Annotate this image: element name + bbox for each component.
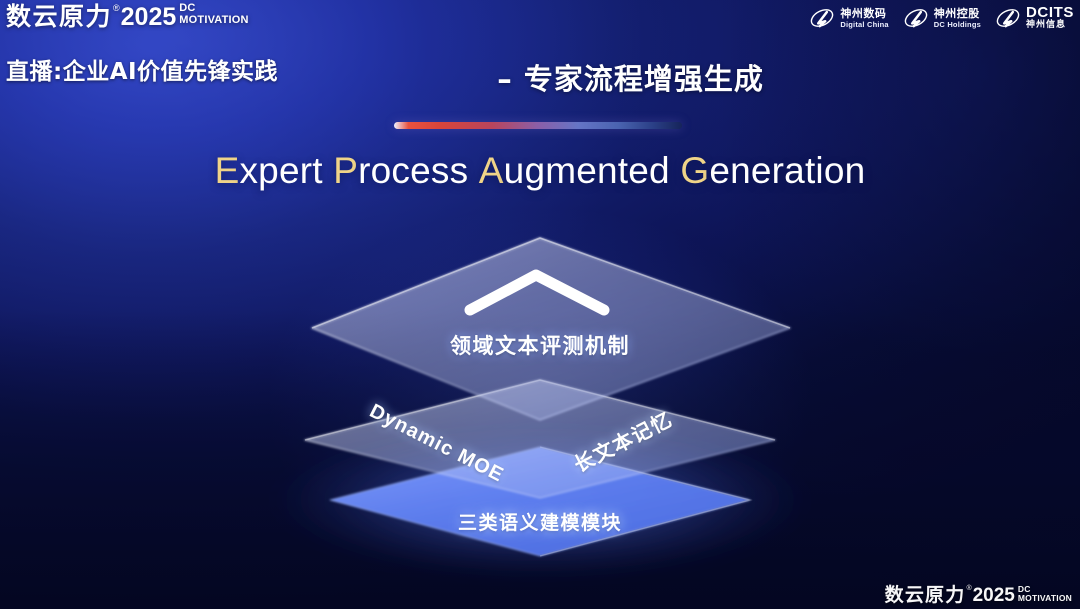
- partner-name-cn: 神州信息: [1026, 20, 1074, 31]
- partner-text-block: DCITS 神州信息: [1026, 5, 1074, 31]
- footer-logo-motivation: MOTIVATION: [1018, 594, 1072, 604]
- subtitle-rest-generation: eneration: [709, 150, 865, 191]
- partner-logo-bar: 神州数码 Digital China 神州控股 DC Holdings DCIT…: [809, 5, 1074, 31]
- subtitle-cap-e: E: [215, 150, 240, 191]
- subtitle-cap-a: A: [479, 150, 504, 191]
- chevron-up-icon: [470, 275, 604, 310]
- slide-title: EPAG – 专家流程增强生成: [0, 56, 1080, 98]
- swoosh-icon: [903, 5, 929, 31]
- diagram-layer-top: [312, 238, 790, 420]
- slide-title-chinese: 专家流程增强生成: [524, 62, 764, 96]
- subtitle-rest-expert: xpert: [239, 150, 322, 191]
- registered-mark-icon: ®: [113, 2, 120, 14]
- event-logo-cn: 数云原力: [6, 2, 112, 32]
- partner-logo-dc-holdings: 神州控股 DC Holdings: [903, 5, 981, 31]
- event-logo-dc: DC: [179, 3, 248, 14]
- slide-canvas: 数云原力 ® 2025 DC MOTIVATION 直播:企业AI价值先锋实践 …: [0, 0, 1080, 609]
- event-logo-motivation: MOTIVATION: [179, 14, 248, 26]
- layer-edge-label-long-text-memory: 长文本记忆: [568, 403, 677, 478]
- slide-title-dash: –: [486, 62, 524, 96]
- footer-watermark-logo: 数云原力 ® 2025 DC MOTIVATION: [885, 584, 1072, 607]
- footer-logo-year: 2025: [973, 584, 1015, 607]
- title-divider: [394, 122, 682, 129]
- bottom-layer-plate: [330, 447, 750, 556]
- partner-name-cn: 神州控股: [934, 8, 981, 20]
- partner-name-en: DC Holdings: [934, 20, 981, 29]
- slide-subtitle: Expert Process Augmented Generation: [0, 150, 1080, 192]
- footer-logo-cn: 数云原力: [885, 584, 966, 607]
- subtitle-rest-augmented: ugmented: [504, 150, 670, 191]
- partner-text-block: 神州控股 DC Holdings: [934, 8, 981, 29]
- swoosh-icon: [995, 5, 1021, 31]
- top-layer-plate: [312, 238, 790, 420]
- subtitle-cap-g: G: [680, 150, 709, 191]
- layer-label-bottom: 三类语义建模模块: [0, 508, 1080, 535]
- slide-title-acronym: EPAG: [400, 64, 486, 96]
- subtitle-cap-p: P: [333, 150, 358, 191]
- partner-text-block: 神州数码 Digital China: [840, 8, 888, 29]
- bottom-layer-highlight: [540, 447, 750, 556]
- diagram-layer-middle: [305, 380, 775, 498]
- partner-logo-dcits: DCITS 神州信息: [995, 5, 1074, 31]
- partner-logo-digital-china: 神州数码 Digital China: [809, 5, 888, 31]
- middle-layer-plate: [305, 380, 775, 498]
- footer-logo-dc-block: DC MOTIVATION: [1018, 585, 1072, 604]
- subtitle-rest-process: rocess: [358, 150, 468, 191]
- partner-name-en: DCITS: [1026, 5, 1074, 20]
- diagram-layer-bottom: [330, 447, 750, 556]
- partner-name-en: Digital China: [840, 20, 888, 29]
- partner-name-cn: 神州数码: [840, 8, 888, 20]
- event-logo: 数云原力 ® 2025 DC MOTIVATION: [6, 2, 249, 32]
- footer-registered-mark-icon: ®: [966, 584, 971, 593]
- layer-label-top: 领域文本评测机制: [0, 330, 1080, 360]
- layer-edge-label-dynamic-moe: Dynamic MOE: [366, 400, 508, 488]
- event-logo-dc-block: DC MOTIVATION: [179, 3, 248, 26]
- bottom-layer-glow: [270, 422, 810, 578]
- top-layer-highlight: [312, 238, 790, 328]
- swoosh-icon: [809, 5, 835, 31]
- event-logo-year: 2025: [121, 2, 177, 32]
